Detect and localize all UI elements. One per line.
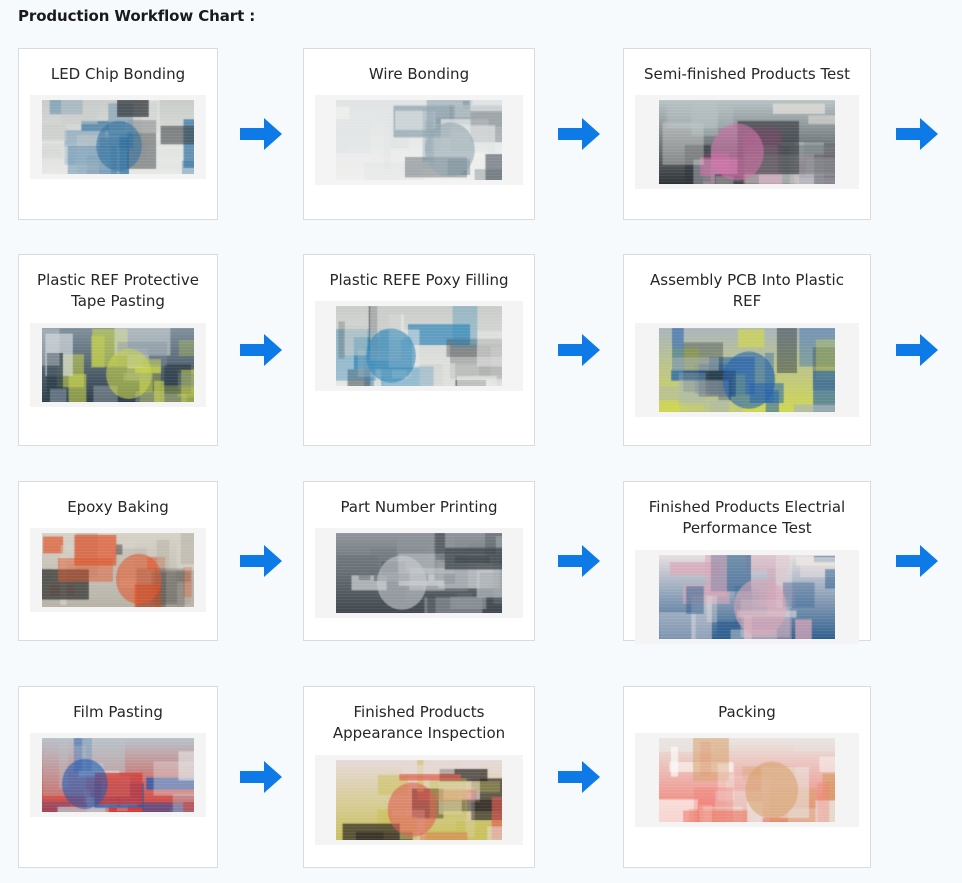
workflow-step-photo: [336, 306, 502, 386]
arrow-right-icon: [556, 114, 602, 154]
workflow-step-label: Packing: [624, 698, 870, 723]
workflow-step-card[interactable]: Wire Bonding: [303, 48, 535, 220]
arrow-right-icon: [894, 541, 940, 581]
workflow-step-card[interactable]: Film Pasting: [18, 686, 218, 868]
workflow-row: LED Chip BondingWire BondingSemi-finishe…: [18, 33, 962, 235]
workflow-step-label: Film Pasting: [19, 698, 217, 723]
workflow-arrow: [535, 541, 623, 581]
workflow-row: Epoxy BakingPart Number PrintingFinished…: [18, 465, 962, 657]
workflow-arrow: [535, 757, 623, 797]
workflow-step-photo-band: [635, 323, 859, 417]
workflow-step-photo-band: [635, 95, 859, 189]
workflow-step-card[interactable]: Plastic REFE Poxy Filling: [303, 254, 535, 446]
workflow-step-photo: [336, 100, 502, 180]
workflow-step-photo-band: [30, 528, 206, 612]
workflow-step-photo-band: [315, 755, 523, 845]
workflow-chart: LED Chip BondingWire BondingSemi-finishe…: [0, 33, 962, 883]
workflow-step-card[interactable]: Part Number Printing: [303, 481, 535, 641]
workflow-arrow: [871, 541, 962, 581]
arrow-right-icon: [556, 757, 602, 797]
arrow-right-icon: [238, 114, 284, 154]
workflow-row: Plastic REF Protective Tape PastingPlast…: [18, 249, 962, 451]
workflow-step-label: Wire Bonding: [304, 60, 534, 85]
workflow-step-photo-band: [30, 95, 206, 179]
arrow-right-icon: [238, 541, 284, 581]
workflow-step-photo-band: [30, 323, 206, 407]
workflow-arrow: [871, 114, 962, 154]
workflow-step-photo: [659, 738, 835, 822]
arrow-right-icon: [894, 330, 940, 370]
workflow-step-label: Semi-finished Products Test: [624, 60, 870, 85]
workflow-step-photo: [42, 533, 194, 607]
arrow-right-icon: [238, 330, 284, 370]
arrow-right-icon: [238, 757, 284, 797]
workflow-step-photo: [659, 100, 835, 184]
workflow-step-photo: [336, 760, 502, 840]
workflow-arrow: [218, 541, 303, 581]
workflow-step-label: Epoxy Baking: [19, 493, 217, 518]
workflow-step-card[interactable]: Epoxy Baking: [18, 481, 218, 641]
workflow-step-label: Part Number Printing: [304, 493, 534, 518]
workflow-arrow: [218, 757, 303, 797]
workflow-step-photo-band: [635, 550, 859, 644]
workflow-step-photo-band: [315, 95, 523, 185]
workflow-arrow: [535, 114, 623, 154]
workflow-step-card[interactable]: Semi-finished Products Test: [623, 48, 871, 220]
workflow-row: Film PastingFinished Products Appearance…: [18, 671, 962, 883]
workflow-step-label: Finished Products Appearance Inspection: [304, 698, 534, 745]
workflow-arrow: [218, 114, 303, 154]
workflow-step-card[interactable]: Assembly PCB Into Plastic REF: [623, 254, 871, 446]
workflow-step-photo: [659, 328, 835, 412]
workflow-step-photo-band: [315, 528, 523, 618]
workflow-step-photo: [336, 533, 502, 613]
workflow-step-card[interactable]: LED Chip Bonding: [18, 48, 218, 220]
workflow-step-label: Plastic REF Protective Tape Pasting: [19, 266, 217, 313]
workflow-step-photo: [42, 100, 194, 174]
workflow-arrow: [535, 330, 623, 370]
workflow-step-photo-band: [315, 301, 523, 391]
workflow-arrow: [218, 330, 303, 370]
arrow-right-icon: [556, 330, 602, 370]
workflow-step-card[interactable]: Finished Products Appearance Inspection: [303, 686, 535, 868]
workflow-step-label: Plastic REFE Poxy Filling: [304, 266, 534, 291]
workflow-step-label: Finished Products Electrial Performance …: [624, 493, 870, 540]
workflow-step-label: LED Chip Bonding: [19, 60, 217, 85]
workflow-step-card[interactable]: Finished Products Electrial Performance …: [623, 481, 871, 641]
arrow-right-icon: [556, 541, 602, 581]
workflow-step-photo: [42, 328, 194, 402]
workflow-step-photo: [42, 738, 194, 812]
workflow-step-photo: [659, 555, 835, 639]
workflow-step-label: Assembly PCB Into Plastic REF: [624, 266, 870, 313]
workflow-step-photo-band: [635, 733, 859, 827]
workflow-step-photo-band: [30, 733, 206, 817]
page-title: Production Workflow Chart :: [0, 0, 962, 25]
arrow-right-icon: [894, 114, 940, 154]
workflow-arrow: [871, 330, 962, 370]
workflow-step-card[interactable]: Packing: [623, 686, 871, 868]
workflow-step-card[interactable]: Plastic REF Protective Tape Pasting: [18, 254, 218, 446]
